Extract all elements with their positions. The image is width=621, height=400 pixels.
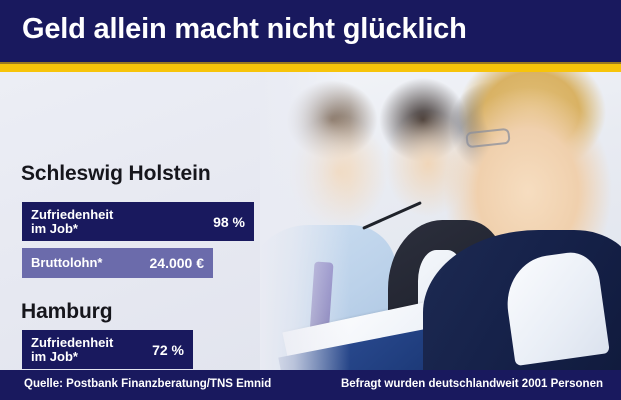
business-team-photo xyxy=(260,72,621,370)
page-title: Geld allein macht nicht glücklich xyxy=(22,13,467,46)
header-bar: Geld allein macht nicht glücklich xyxy=(0,0,621,62)
bar-value-salary: 24.000 € xyxy=(138,255,205,271)
pen-icon xyxy=(362,201,422,230)
footer-sample-note: Befragt wurden deutschlandweit 2001 Pers… xyxy=(341,378,603,390)
bar-salary-schleswig-holstein: Bruttolohn* 24.000 € xyxy=(22,248,213,278)
bar-label-satisfaction: Zufriedenheit im Job* xyxy=(31,336,113,364)
region-heading-schleswig-holstein: Schleswig Holstein xyxy=(21,162,211,186)
infographic-root: Geld allein macht nicht glücklich Schles… xyxy=(0,0,621,400)
bar-label-salary: Bruttolohn* xyxy=(31,256,102,270)
content-area: Schleswig Holstein Zufriedenheit im Job*… xyxy=(0,72,621,370)
bar-label-satisfaction: Zufriedenheit im Job* xyxy=(31,208,113,236)
bar-value-satisfaction: 72 % xyxy=(140,342,184,358)
bar-satisfaction-hamburg: Zufriedenheit im Job* 72 % xyxy=(22,330,193,369)
region-heading-hamburg: Hamburg xyxy=(21,300,112,324)
footer-bar: Quelle: Postbank Finanzberatung/TNS Emni… xyxy=(0,370,621,400)
bar-value-satisfaction: 98 % xyxy=(201,214,245,230)
footer-source-text: Quelle: Postbank Finanzberatung/TNS Emni… xyxy=(24,378,271,390)
bar-satisfaction-schleswig-holstein: Zufriedenheit im Job* 98 % xyxy=(22,202,254,241)
photo-left-fade xyxy=(260,72,350,370)
header-accent-stripe xyxy=(0,64,621,72)
